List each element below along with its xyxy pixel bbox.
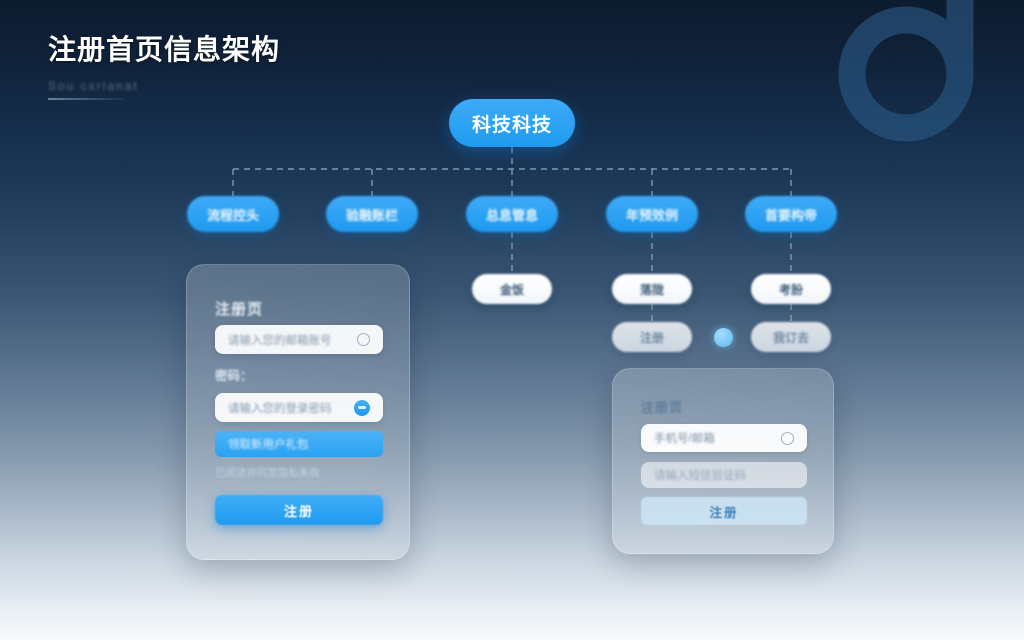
diagram-node-l2-1-label: 流程控头 <box>207 205 259 224</box>
card-left-email-field[interactable]: 请输入您的邮箱账号 <box>215 325 383 354</box>
diagram-node-l2-5[interactable]: 首要构帝 <box>745 196 837 232</box>
diagram-node-l3-2-label: 落陇 <box>640 281 664 298</box>
blue-dot-button-icon[interactable] <box>354 400 370 416</box>
diagram-node-l3-5[interactable]: 我订去 <box>751 322 831 352</box>
diagram-node-l2-2[interactable]: 验融账栏 <box>326 196 418 232</box>
diagram-node-root[interactable]: 科技科技 <box>449 99 575 147</box>
diagram-node-l2-3-label: 总息管息 <box>486 205 538 224</box>
diagram-node-l3-3-label: 考朌 <box>779 281 803 298</box>
card-left-terms-hint[interactable]: 已阅读并同意隐私条款 <box>215 465 320 480</box>
card-right-title: 注册页 <box>641 397 683 416</box>
card-right-submit-button[interactable]: 注册 <box>641 497 807 525</box>
diagram-node-l2-4-label: 年预效例 <box>626 205 678 224</box>
registration-card-right: 注册页 手机号/邮箱 请输入短信验证码 注册 <box>612 368 834 554</box>
diagram-node-l3-4[interactable]: 注册 <box>612 322 692 352</box>
card-right-account-placeholder: 手机号/邮箱 <box>654 430 715 446</box>
circle-icon <box>357 333 370 346</box>
diagram-node-l3-3[interactable]: 考朌 <box>751 274 831 304</box>
diagram-node-l2-3[interactable]: 总息管息 <box>466 196 558 232</box>
card-left-title: 注册页 <box>215 298 263 319</box>
card-left-password-field[interactable]: 请输入您的登录密码 <box>215 393 383 422</box>
diagram-node-root-label: 科技科技 <box>472 110 552 137</box>
diagram-node-l2-4[interactable]: 年预效例 <box>606 196 698 232</box>
junction-dot-indicator <box>714 328 733 347</box>
card-left-promo-banner-label: 领取新用户礼包 <box>228 436 309 452</box>
information-architecture-diagram: 科技科技 流程控头 验融账栏 总息管息 年预效例 首要构帝 金饭 落陇 考朌 注… <box>0 0 1024 640</box>
card-right-code-field[interactable]: 请输入短信验证码 <box>641 462 807 488</box>
circle-icon <box>781 432 794 445</box>
card-right-code-placeholder: 请输入短信验证码 <box>654 467 746 483</box>
card-left-email-placeholder: 请输入您的邮箱账号 <box>228 332 332 348</box>
card-left-submit-button[interactable]: 注册 <box>215 495 383 525</box>
diagram-node-l3-4-label: 注册 <box>640 329 664 346</box>
card-left-password-placeholder: 请输入您的登录密码 <box>228 400 332 416</box>
diagram-node-l3-1[interactable]: 金饭 <box>472 274 552 304</box>
connector-lines <box>0 0 1024 640</box>
diagram-node-l3-2[interactable]: 落陇 <box>612 274 692 304</box>
diagram-node-l2-5-label: 首要构帝 <box>765 205 817 224</box>
card-left-promo-banner[interactable]: 领取新用户礼包 <box>215 431 383 457</box>
card-right-account-field[interactable]: 手机号/邮箱 <box>641 424 807 452</box>
diagram-node-l2-1[interactable]: 流程控头 <box>187 196 279 232</box>
diagram-node-l3-1-label: 金饭 <box>500 281 524 298</box>
diagram-node-l2-2-label: 验融账栏 <box>346 205 398 224</box>
diagram-node-l3-5-label: 我订去 <box>773 329 809 346</box>
registration-card-left: 注册页 请输入您的邮箱账号 密码： 请输入您的登录密码 领取新用户礼包 已阅读并… <box>186 264 410 560</box>
card-left-password-label: 密码： <box>215 365 253 384</box>
